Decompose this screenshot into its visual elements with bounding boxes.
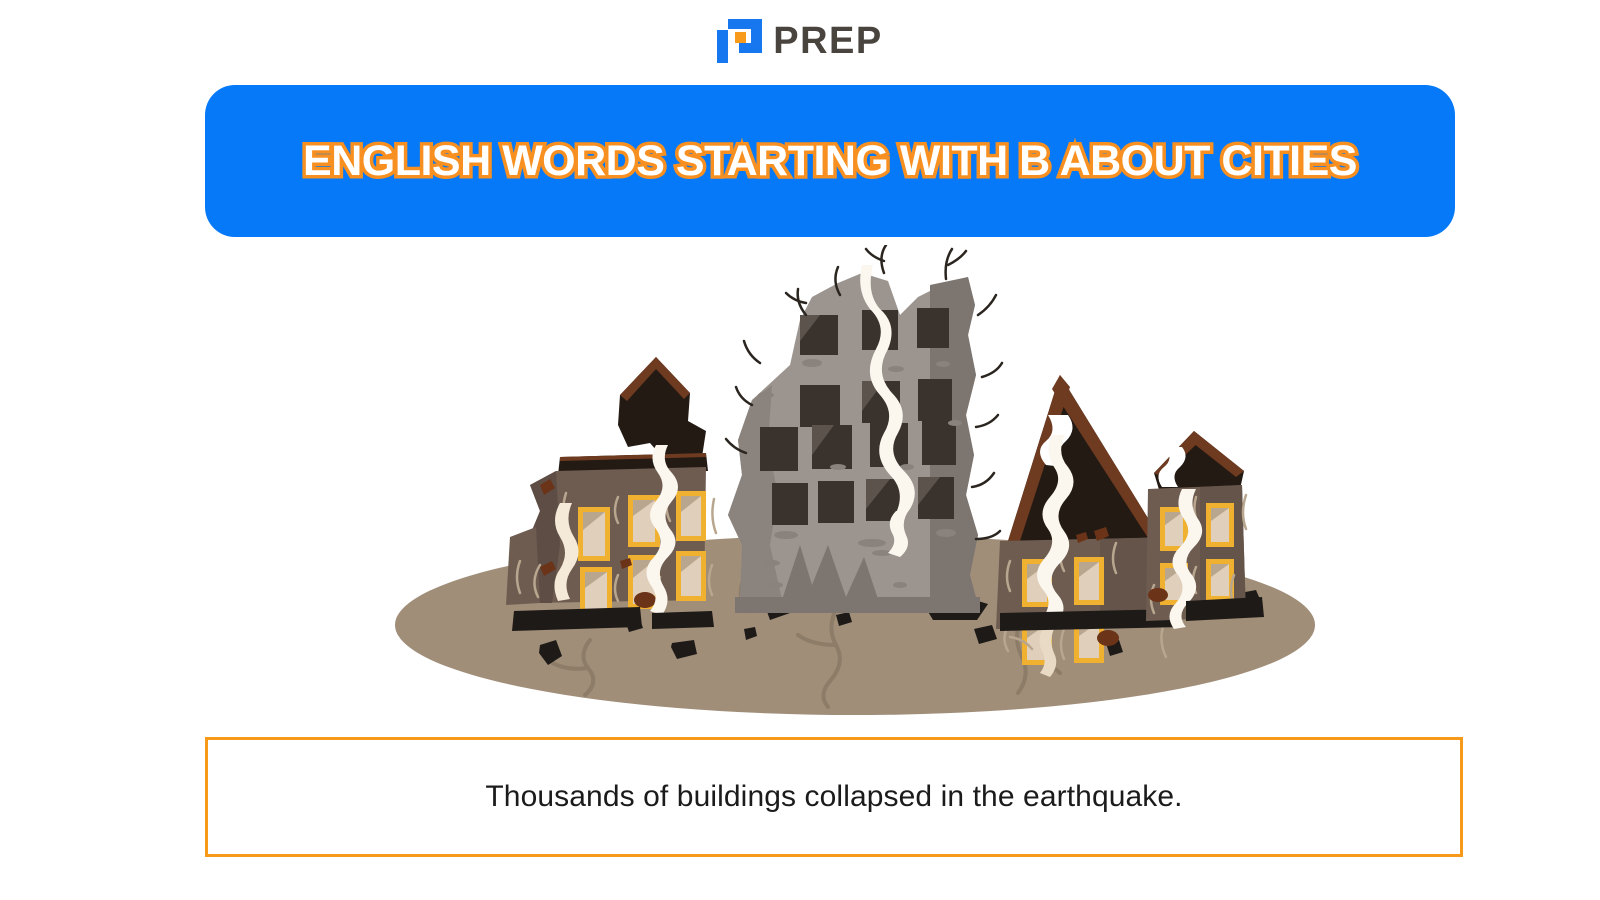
far-right-debris-dots: [1148, 588, 1168, 602]
prep-logo-icon: [717, 19, 762, 63]
earthquake-illustration: [0, 245, 1600, 715]
caption-box: Thousands of buildings collapsed in the …: [205, 737, 1463, 857]
brand-logo-lockup[interactable]: PREP: [717, 19, 882, 63]
far-right-building: [1146, 431, 1264, 629]
brand-header: PREP: [0, 0, 1600, 82]
far-right-base-slab: [1186, 597, 1264, 621]
earthquake-illustration-svg: [0, 245, 1600, 715]
left-building-base-slab: [512, 607, 642, 631]
left-building: [506, 357, 716, 631]
left-building-loose-slab: [506, 527, 540, 605]
page-title: ENGLISH WORDS STARTING WITH B ABOUT CITI…: [303, 137, 1357, 186]
center-ruined-building: [726, 245, 1002, 613]
center-building-base: [735, 597, 980, 613]
brand-wordmark: PREP: [773, 22, 882, 60]
caption-text: Thousands of buildings collapsed in the …: [485, 780, 1182, 814]
left-building-base-slab-right: [652, 611, 714, 629]
title-banner: ENGLISH WORDS STARTING WITH B ABOUT CITI…: [205, 85, 1455, 237]
